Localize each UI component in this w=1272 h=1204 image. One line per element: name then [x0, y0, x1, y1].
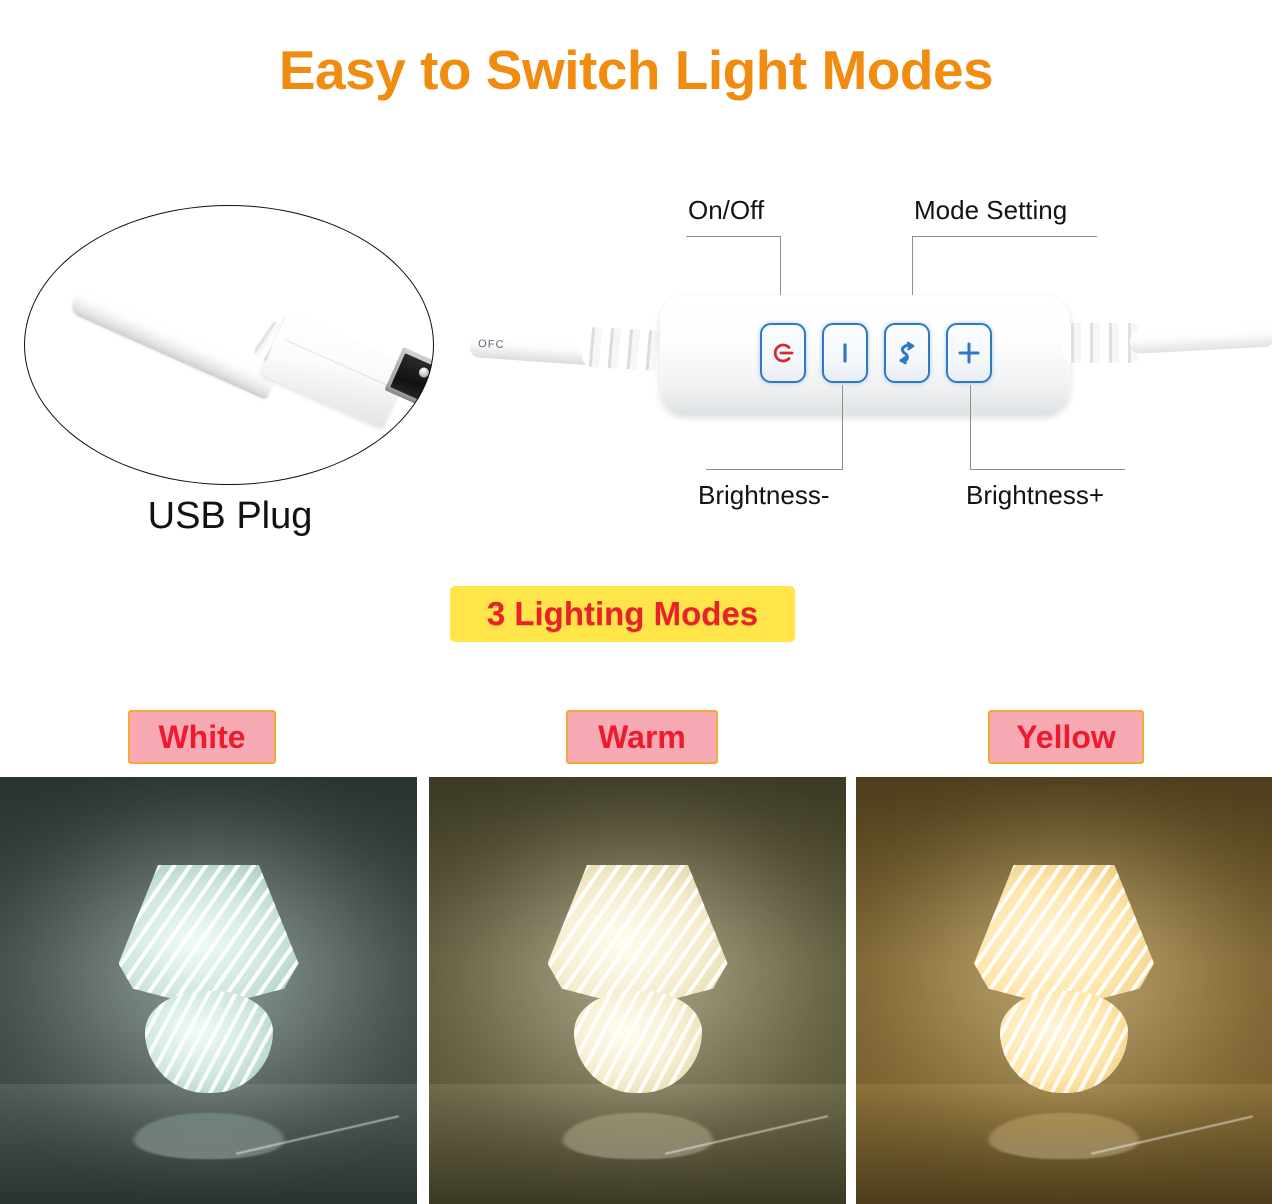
mushroom-lamp: [540, 865, 736, 1093]
usb-plug-label: USB Plug: [10, 495, 450, 538]
mode-badge-white: White: [128, 710, 276, 764]
plus-icon: [956, 340, 982, 366]
mode-badge-label: Yellow: [1016, 719, 1116, 756]
lamp-photo-white: [0, 777, 417, 1204]
inline-controller-block: On/Off Mode Setting OFC: [470, 195, 1272, 525]
lamp-base: [145, 991, 273, 1093]
mode-badge-label: Warm: [598, 719, 686, 756]
mode-cycle-icon: [893, 339, 921, 367]
callout-label-mode-setting: Mode Setting: [914, 195, 1067, 226]
lamp-swirl-pattern: [548, 865, 728, 998]
lamp-base: [574, 991, 702, 1093]
lamp-shade: [974, 865, 1154, 998]
lamp-photo-warm: [429, 777, 846, 1204]
callout-rule-on-off: [686, 236, 781, 237]
mushroom-lamp: [966, 865, 1162, 1093]
lamp-swirl-pattern: [145, 991, 273, 1093]
lighting-modes-banner-label: 3 Lighting Modes: [487, 595, 758, 633]
lamp-reflection: [563, 1113, 713, 1159]
lamp-base: [1000, 991, 1128, 1093]
power-button[interactable]: [760, 323, 806, 383]
brightness-down-button[interactable]: [822, 323, 868, 383]
lamp-shade: [548, 865, 728, 998]
lamp-reflection: [989, 1113, 1139, 1159]
callout-rule-mode-setting: [912, 236, 1097, 237]
lamp-swirl-pattern: [1000, 991, 1128, 1093]
usb-plug-block: USB Plug: [10, 205, 450, 565]
lamp-reflection: [134, 1113, 284, 1159]
bar-icon: [832, 340, 858, 366]
lamp-swirl-pattern: [119, 865, 299, 998]
mode-badge-yellow: Yellow: [988, 710, 1144, 764]
page-title: Easy to Switch Light Modes: [0, 38, 1272, 102]
power-icon: [770, 340, 796, 366]
callout-drop-brightness-plus: [970, 385, 971, 470]
brightness-up-button[interactable]: [946, 323, 992, 383]
mode-badge-label: White: [158, 719, 245, 756]
controller-cable-right: [1129, 324, 1272, 354]
controller-strain-relief-left: [581, 327, 669, 371]
callout-label-brightness-plus: Brightness+: [966, 480, 1104, 511]
callout-rule-brightness-plus: [970, 469, 1125, 470]
lighting-modes-banner: 3 Lighting Modes: [450, 586, 795, 642]
mushroom-lamp: [111, 865, 307, 1093]
lamp-swirl-pattern: [574, 991, 702, 1093]
cable-print-text: OFC: [478, 338, 505, 351]
mode-badge-warm: Warm: [566, 710, 718, 764]
callout-label-brightness-minus: Brightness-: [698, 480, 830, 511]
lamp-swirl-pattern: [974, 865, 1154, 998]
callout-label-on-off: On/Off: [688, 195, 764, 226]
lamp-shade: [119, 865, 299, 998]
lamp-photo-yellow: [856, 777, 1272, 1204]
usb-plug-highlight-ellipse: [24, 205, 434, 485]
callout-rule-brightness-minus: [706, 469, 843, 470]
callout-drop-brightness-minus: [842, 385, 843, 470]
mode-button[interactable]: [884, 323, 930, 383]
